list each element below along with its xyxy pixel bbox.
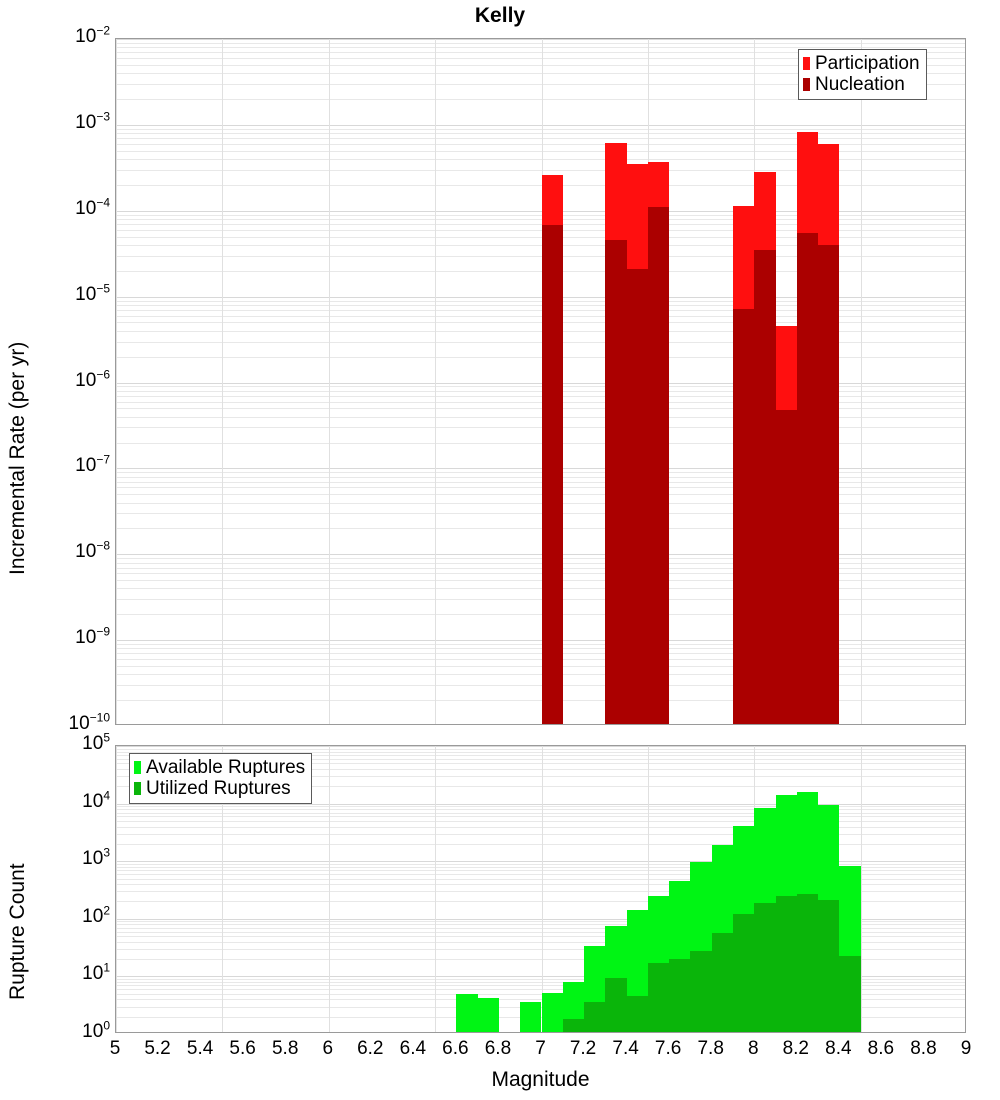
bar-available-ruptures bbox=[456, 994, 477, 1033]
page-title: Kelly bbox=[0, 4, 1000, 28]
y-tick-label: 10−7 bbox=[75, 456, 110, 475]
y-tick-label: 10−4 bbox=[75, 199, 110, 218]
available-ruptures-swatch-icon bbox=[134, 761, 141, 774]
bar-nucleation bbox=[627, 269, 648, 725]
legend-label-nucleation: Nucleation bbox=[815, 75, 905, 94]
bar-utilized-ruptures bbox=[627, 996, 648, 1033]
y-axis-title-bottom: Rupture Count bbox=[6, 863, 30, 1000]
bar-available-ruptures bbox=[520, 1002, 541, 1033]
y-axis-title-top: Incremental Rate (per yr) bbox=[6, 342, 30, 575]
legend-item-available-ruptures[interactable]: Available Ruptures bbox=[134, 757, 305, 778]
x-tick-label: 8.6 bbox=[868, 1038, 894, 1060]
bar-utilized-ruptures bbox=[690, 951, 711, 1033]
utilized-ruptures-swatch-icon bbox=[134, 782, 141, 795]
y-tick-label: 101 bbox=[82, 964, 110, 983]
x-tick-label: 8.2 bbox=[783, 1038, 809, 1060]
bar-utilized-ruptures bbox=[669, 959, 690, 1033]
x-tick-label: 9 bbox=[961, 1038, 972, 1060]
bar-nucleation bbox=[733, 309, 754, 725]
y-tick-label: 103 bbox=[82, 849, 110, 868]
bar-utilized-ruptures bbox=[839, 956, 860, 1033]
y-tick-label: 100 bbox=[82, 1022, 110, 1041]
participation-swatch-icon bbox=[803, 57, 810, 70]
legend-item-nucleation[interactable]: Nucleation bbox=[803, 74, 920, 95]
x-tick-label: 8 bbox=[748, 1038, 759, 1060]
bar-available-ruptures bbox=[542, 993, 563, 1033]
y-tick-label: 104 bbox=[82, 792, 110, 811]
x-tick-label: 8.4 bbox=[825, 1038, 851, 1060]
bar-nucleation bbox=[818, 245, 839, 725]
bar-nucleation bbox=[776, 410, 797, 725]
bar-utilized-ruptures bbox=[648, 963, 669, 1033]
y-tick-label: 10−2 bbox=[75, 27, 110, 46]
bar-utilized-ruptures bbox=[818, 900, 839, 1033]
x-tick-label: 6 bbox=[322, 1038, 333, 1060]
legend-item-participation[interactable]: Participation bbox=[803, 53, 920, 74]
x-tick-label: 5.8 bbox=[272, 1038, 298, 1060]
bar-utilized-ruptures bbox=[733, 914, 754, 1033]
x-tick-label: 7.6 bbox=[655, 1038, 681, 1060]
bar-nucleation bbox=[605, 240, 626, 725]
x-tick-label: 5.6 bbox=[229, 1038, 255, 1060]
legend-item-utilized-ruptures[interactable]: Utilized Ruptures bbox=[134, 778, 305, 799]
legend-rupture-count: Available Ruptures Utilized Ruptures bbox=[129, 753, 312, 804]
y-tick-label: 10−8 bbox=[75, 542, 110, 561]
bar-utilized-ruptures bbox=[776, 896, 797, 1033]
bars-incremental-rate bbox=[116, 39, 965, 724]
bar-nucleation bbox=[648, 207, 669, 725]
y-tick-label: 10−5 bbox=[75, 285, 110, 304]
bar-utilized-ruptures bbox=[797, 894, 818, 1033]
y-tick-label: 10−3 bbox=[75, 113, 110, 132]
x-tick-label: 5 bbox=[110, 1038, 121, 1060]
y-tick-label: 105 bbox=[82, 734, 110, 753]
legend-incremental-rate: Participation Nucleation bbox=[798, 49, 927, 100]
legend-label-utilized-ruptures: Utilized Ruptures bbox=[146, 779, 291, 798]
x-tick-label: 6.8 bbox=[485, 1038, 511, 1060]
bar-nucleation bbox=[754, 250, 775, 725]
x-axis-title: Magnitude bbox=[115, 1068, 966, 1092]
x-tick-label: 7.8 bbox=[697, 1038, 723, 1060]
y-tick-label: 10−6 bbox=[75, 371, 110, 390]
bar-utilized-ruptures bbox=[712, 933, 733, 1033]
x-tick-label: 8.8 bbox=[910, 1038, 936, 1060]
x-tick-label: 7.2 bbox=[570, 1038, 596, 1060]
x-tick-label: 6.2 bbox=[357, 1038, 383, 1060]
x-tick-label: 5.2 bbox=[144, 1038, 170, 1060]
legend-label-available-ruptures: Available Ruptures bbox=[146, 758, 305, 777]
x-tick-label: 5.4 bbox=[187, 1038, 213, 1060]
legend-label-participation: Participation bbox=[815, 54, 920, 73]
nucleation-swatch-icon bbox=[803, 78, 810, 91]
y-tick-label: 10−9 bbox=[75, 628, 110, 647]
x-tick-label: 6.4 bbox=[400, 1038, 426, 1060]
y-tick-label: 102 bbox=[82, 907, 110, 926]
bar-utilized-ruptures bbox=[605, 978, 626, 1033]
bar-utilized-ruptures bbox=[563, 1019, 584, 1033]
bar-nucleation bbox=[797, 233, 818, 725]
x-tick-label: 7.4 bbox=[612, 1038, 638, 1060]
bar-available-ruptures bbox=[478, 998, 499, 1033]
bar-utilized-ruptures bbox=[754, 903, 775, 1033]
bar-utilized-ruptures bbox=[584, 1002, 605, 1033]
bar-nucleation bbox=[542, 225, 563, 725]
x-tick-label: 7 bbox=[535, 1038, 546, 1060]
x-tick-label: 6.6 bbox=[442, 1038, 468, 1060]
incremental-rate-plot bbox=[115, 38, 966, 725]
